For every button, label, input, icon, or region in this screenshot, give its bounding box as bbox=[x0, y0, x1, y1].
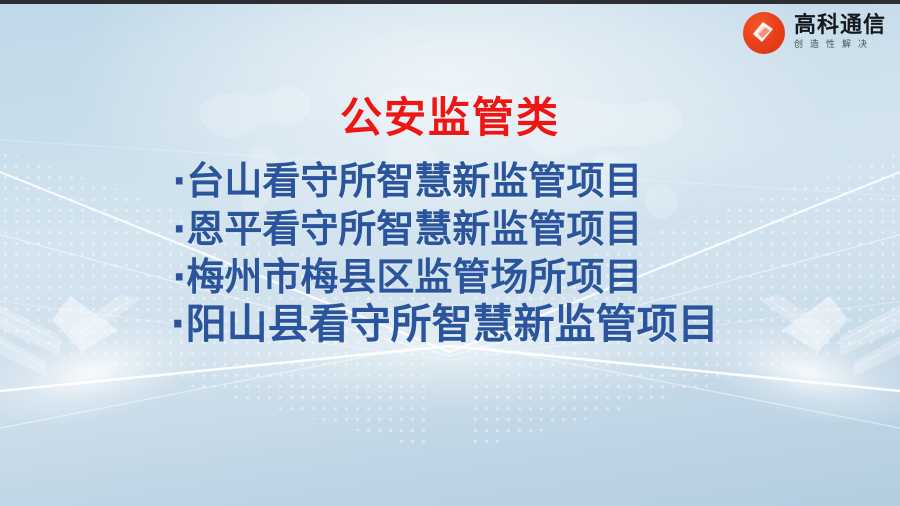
company-logo: 高科通信 创造性解决 bbox=[743, 12, 886, 54]
project-list: ·台山看守所智慧新监管项目 ·恩平看守所智慧新监管项目 ·梅州市梅县区监管场所项… bbox=[172, 162, 719, 345]
page-title: 公安监管类 bbox=[0, 84, 900, 145]
right-corner-structure bbox=[720, 290, 900, 410]
left-corner-structure bbox=[0, 290, 180, 410]
presentation-slide: 高科通信 创造性解决 公安监管类 ·台山看守所智慧新监管项目 ·恩平看守所智慧新… bbox=[0, 0, 900, 506]
logo-text-block: 高科通信 创造性解决 bbox=[794, 14, 886, 53]
list-item: ·恩平看守所智慧新监管项目 bbox=[172, 210, 719, 248]
list-item: ·台山看守所智慧新监管项目 bbox=[172, 162, 719, 200]
top-edge-band bbox=[0, 0, 900, 4]
company-tagline: 创造性解决 bbox=[794, 39, 886, 53]
list-item: ·阳山县看守所智慧新监管项目 bbox=[170, 304, 719, 345]
list-item: ·梅州市梅县区监管场所项目 bbox=[172, 258, 719, 296]
orange-circle-arrow-logo-icon bbox=[743, 12, 785, 54]
company-name: 高科通信 bbox=[794, 14, 886, 37]
